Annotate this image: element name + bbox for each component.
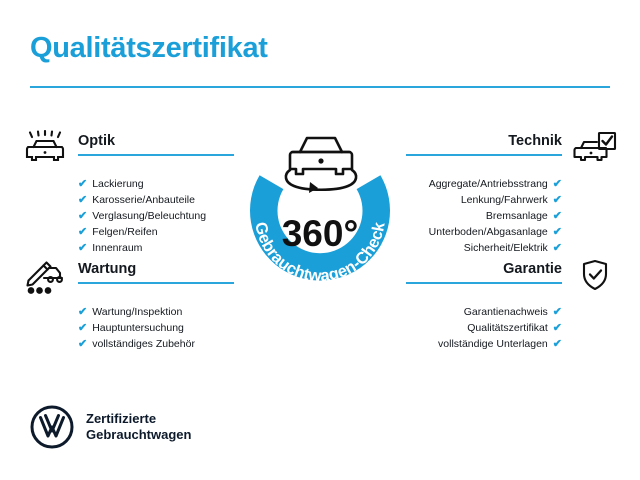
list-item-label: Garantienachweis [464,304,548,320]
check-icon: ✔ [553,339,562,350]
header-divider [30,86,610,88]
check-icon: ✔ [553,211,562,222]
list-item: Aggregate/Antriebsstrang✔ [406,176,618,192]
list-item: vollständige Unterlagen✔ [406,336,618,352]
section-header: Technik [406,130,618,170]
section-header: Wartung [22,258,234,298]
check-icon: ✔ [553,243,562,254]
list-item-label: vollständiges Zubehör [92,336,195,352]
section-divider [406,154,562,156]
badge-360-gebrauchtwagen-check: 360° Gebrauchtwagen-Check [232,118,408,304]
check-icon: ✔ [553,195,562,206]
check-icon: ✔ [78,323,87,334]
list-item-label: Unterboden/Abgasanlage [429,224,548,240]
list-item: ✔Innenraum [22,240,234,256]
footer-text: Zertifizierte Gebrauchtwagen [86,411,191,443]
footer-line-2: Gebrauchtwagen [86,427,191,443]
list-item-label: vollständige Unterlagen [438,336,548,352]
section-divider [78,154,234,156]
list-item: Unterboden/Abgasanlage✔ [406,224,618,240]
list-item: Sicherheit/Elektrik✔ [406,240,618,256]
checklist-optik: ✔Lackierung ✔Karosserie/Anbauteile ✔Verg… [22,176,234,256]
list-item: Qualitätszertifikat✔ [406,320,618,336]
list-item-label: Wartung/Inspektion [92,304,182,320]
section-wartung: Wartung ✔Wartung/Inspektion ✔Hauptunters… [22,258,234,352]
check-icon: ✔ [553,227,562,238]
checklist-garantie: Garantienachweis✔ Qualitätszertifikat✔ v… [406,304,618,352]
list-item: ✔Wartung/Inspektion [22,304,234,320]
list-item-label: Verglasung/Beleuchtung [92,208,206,224]
check-icon: ✔ [78,179,87,190]
check-icon: ✔ [553,179,562,190]
list-item: Lenkung/Fahrwerk✔ [406,192,618,208]
list-item-label: Qualitätszertifikat [467,320,548,336]
car-rotate-icon [286,138,356,193]
check-icon: ✔ [78,211,87,222]
check-icon: ✔ [78,195,87,206]
check-icon: ✔ [78,339,87,350]
car-wash-icon [22,130,68,168]
footer-brand: Zertifizierte Gebrauchtwagen [30,405,191,449]
list-item-label: Felgen/Reifen [92,224,157,240]
list-item: ✔Karosserie/Anbauteile [22,192,234,208]
section-title: Technik [406,132,562,150]
check-icon: ✔ [553,307,562,318]
list-item: ✔Lackierung [22,176,234,192]
section-optik: Optik ✔Lackierung ✔Karosserie/Anbauteile… [22,130,234,256]
list-item: Bremsanlage✔ [406,208,618,224]
list-item-label: Hauptuntersuchung [92,320,184,336]
list-item: ✔Hauptuntersuchung [22,320,234,336]
badge-center-label: 360° [282,213,359,254]
list-item: ✔vollständiges Zubehör [22,336,234,352]
section-divider [78,282,234,284]
section-title: Optik [78,132,234,150]
list-item: ✔Felgen/Reifen [22,224,234,240]
check-icon: ✔ [78,307,87,318]
shield-check-icon [572,258,618,296]
pen-car-service-icon [22,258,68,296]
page-title: Qualitätszertifikat [30,32,268,65]
list-item-label: Lackierung [92,176,143,192]
check-icon: ✔ [78,243,87,254]
list-item-label: Aggregate/Antriebsstrang [429,176,548,192]
list-item-label: Lenkung/Fahrwerk [461,192,548,208]
section-garantie: Garantie Garantienachweis✔ Qualitätszert… [406,258,618,352]
footer-line-1: Zertifizierte [86,411,191,427]
certificate-page: Qualitätszertifikat Optik ✔Lackierung ✔K… [0,0,640,480]
section-technik: Technik Aggregate/Antriebsstrang✔ Lenkun… [406,130,618,256]
section-title: Garantie [406,260,562,278]
vw-logo [30,405,74,449]
section-title: Wartung [78,260,234,278]
section-header: Optik [22,130,234,170]
list-item-label: Innenraum [92,240,142,256]
section-header: Garantie [406,258,618,298]
section-divider [406,282,562,284]
check-icon: ✔ [78,227,87,238]
list-item-label: Sicherheit/Elektrik [464,240,548,256]
list-item: Garantienachweis✔ [406,304,618,320]
car-checkbox-icon [572,130,618,168]
checklist-technik: Aggregate/Antriebsstrang✔ Lenkung/Fahrwe… [406,176,618,256]
checklist-wartung: ✔Wartung/Inspektion ✔Hauptuntersuchung ✔… [22,304,234,352]
list-item: ✔Verglasung/Beleuchtung [22,208,234,224]
check-icon: ✔ [553,323,562,334]
list-item-label: Karosserie/Anbauteile [92,192,195,208]
list-item-label: Bremsanlage [486,208,548,224]
